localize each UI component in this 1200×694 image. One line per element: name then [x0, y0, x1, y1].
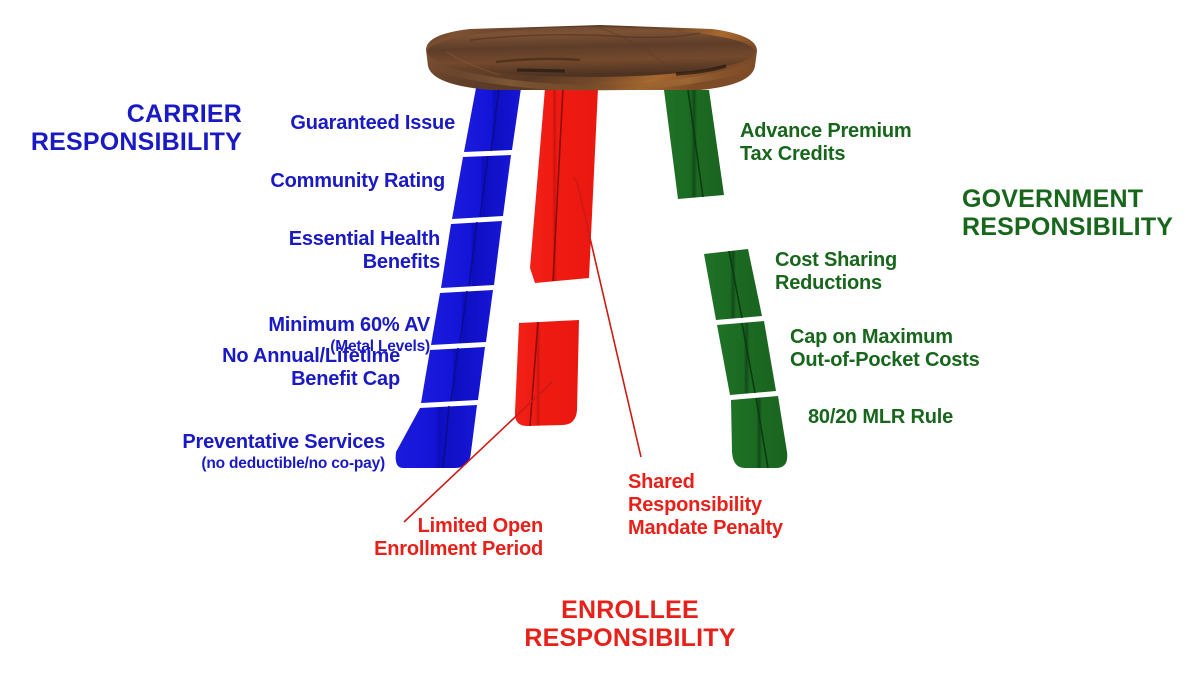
enrollee-responsibility-heading-line2: RESPONSIBILITY	[475, 624, 785, 652]
enrollee-responsibility-heading: ENROLLEE	[475, 596, 785, 624]
government-leg-segment	[717, 321, 776, 395]
carrier-item-no-annual-lifetime-cap: No Annual/Lifetime Benefit Cap	[140, 345, 400, 391]
carrier-item-community-rating: Community Rating	[185, 170, 445, 193]
government-item-mlr-rule: 80/20 MLR Rule	[808, 406, 1068, 429]
carrier-item-preventative-services: Preventative Services (no deductible/no …	[125, 408, 385, 495]
carrier-leg-segment	[421, 347, 485, 403]
government-item-cap-on-maximum-oop: Cap on Maximum Out-of-Pocket Costs	[790, 326, 1080, 372]
carrier-leg-blue	[396, 88, 521, 468]
enrollee-item-limited-open-enrollment: Limited Open Enrollment Period	[283, 515, 543, 561]
carrier-item-preventative-services-label: Preventative Services	[182, 431, 385, 453]
government-leg-segment	[731, 396, 787, 468]
enrollee-leg-segment	[530, 88, 598, 283]
carrier-leg-segment	[452, 155, 511, 219]
government-item-cost-sharing-reductions: Cost Sharing Reductions	[775, 249, 1035, 295]
government-leg-segment	[704, 249, 762, 320]
carrier-item-preventative-services-sub: (no deductible/no co-pay)	[125, 455, 385, 473]
carrier-leg-segment	[396, 405, 477, 468]
carrier-leg-segment	[464, 88, 521, 152]
stool-diagram-canvas: CARRIER RESPONSIBILITY Guaranteed Issue …	[0, 0, 1200, 694]
carrier-item-essential-health-benefits: Essential Health Benefits	[180, 228, 440, 274]
government-responsibility-heading-line2: RESPONSIBILITY	[962, 213, 1200, 241]
enrollee-leg-segment	[515, 320, 579, 426]
carrier-item-minimum-av-label: Minimum 60% AV	[268, 314, 430, 336]
carrier-leg-segment	[431, 290, 493, 345]
enrollee-item-shared-responsibility-mandate-penalty: Shared Responsibility Mandate Penalty	[628, 471, 908, 539]
government-leg-segment	[664, 90, 724, 199]
carrier-item-guaranteed-issue: Guaranteed Issue	[195, 112, 455, 135]
government-item-advance-premium-tax-credits: Advance Premium Tax Credits	[740, 120, 1000, 166]
government-responsibility-heading: GOVERNMENT	[962, 185, 1200, 213]
carrier-leg-segment	[441, 221, 502, 288]
stool-seat	[426, 25, 757, 91]
